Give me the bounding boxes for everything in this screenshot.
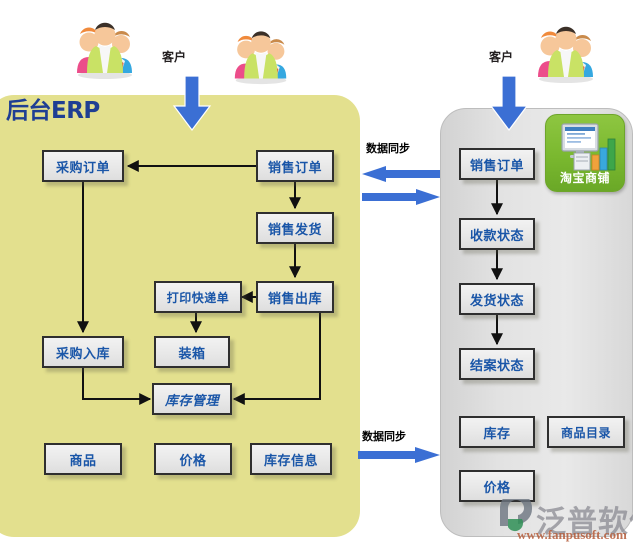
monitor-chart-icon [546, 117, 626, 177]
customer-group-left-icon [72, 18, 138, 84]
node-settlement-status[interactable]: 结案状态 [459, 348, 535, 380]
node-sales-order[interactable]: 销售订单 [256, 150, 334, 182]
node-purchase-inbound[interactable]: 采购入库 [42, 336, 124, 368]
sync-bottom-label: 数据同步 [362, 428, 406, 444]
sync-left-arrow-icon [362, 166, 440, 186]
node-shipping-status[interactable]: 发货状态 [459, 283, 535, 315]
erp-taobao-flow-diagram: 后台ERP 客户 [0, 0, 633, 547]
customer-group-left-label: 客户 [162, 48, 186, 65]
node-shop-sales-order[interactable]: 销售订单 [459, 148, 535, 180]
taobao-shop-tile[interactable]: 淘宝商铺 [545, 114, 625, 192]
node-shop-inventory[interactable]: 库存 [459, 416, 535, 448]
node-packing[interactable]: 装箱 [154, 336, 230, 368]
node-purchase-order[interactable]: 采购订单 [42, 150, 124, 182]
customer-group-middle-icon [228, 27, 294, 89]
node-stock-info[interactable]: 库存信息 [250, 443, 332, 475]
sync-right-arrow-icon [362, 189, 440, 209]
page-title: 后台ERP [6, 91, 100, 125]
customer-group-right-icon [533, 22, 599, 88]
customer-group-right-label: 客户 [489, 48, 513, 65]
node-print-waybill[interactable]: 打印快递单 [154, 281, 242, 313]
sync-top-label: 数据同步 [366, 140, 410, 156]
node-sales-shipment[interactable]: 销售发货 [256, 212, 334, 244]
customer-to-shop-arrow-icon [489, 76, 529, 136]
taobao-shop-tile-label: 淘宝商铺 [546, 169, 624, 186]
node-product-catalog[interactable]: 商品目录 [547, 416, 625, 448]
node-goods[interactable]: 商品 [44, 443, 122, 475]
node-payment-status[interactable]: 收款状态 [459, 218, 535, 250]
node-price[interactable]: 价格 [154, 443, 232, 475]
node-inventory-management[interactable]: 库存管理 [152, 383, 232, 415]
watermark-url: www.fanpusoft.com [517, 527, 627, 543]
watermark: 泛普软件 www.fanpusoft.com [496, 497, 633, 545]
sync-bottom-right-arrow-icon [358, 447, 440, 467]
node-sales-outbound[interactable]: 销售出库 [256, 281, 334, 313]
customer-to-erp-arrow-icon [172, 76, 212, 136]
